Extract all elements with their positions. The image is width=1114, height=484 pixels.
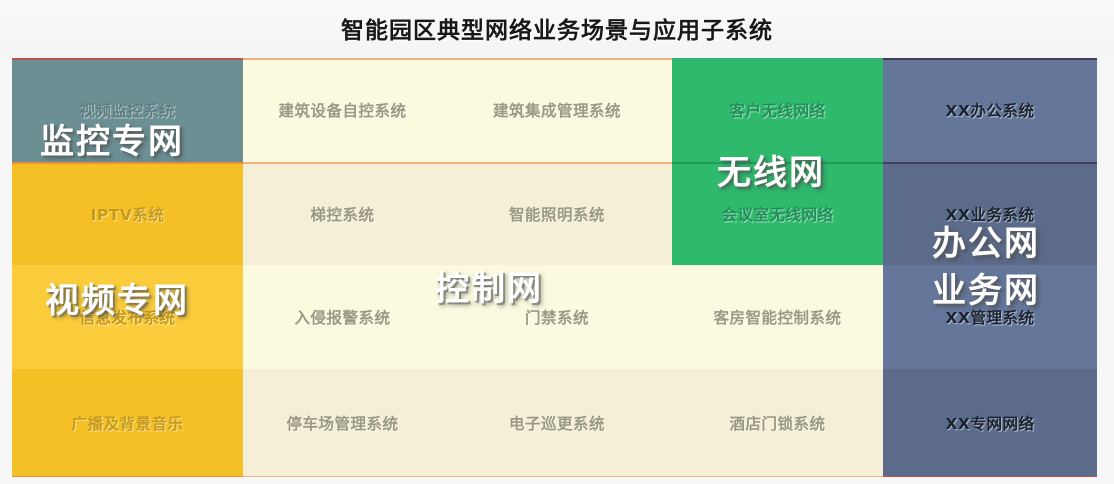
cell-accent-line — [883, 476, 1097, 478]
cell-r2c2[interactable]: 梯控系统 — [243, 162, 442, 265]
cell-label: 智能照明系统 — [509, 203, 605, 225]
overlay-label-monitor-network[interactable]: 监控专网 — [40, 114, 184, 163]
cell-r3c4[interactable]: 客房智能控制系统 — [672, 265, 883, 369]
cell-r4c3[interactable]: 电子巡更系统 — [442, 369, 672, 477]
cell-accent-line — [442, 162, 672, 164]
overlay-label-office-network[interactable]: 办公网 — [932, 216, 1040, 265]
cell-label: 建筑集成管理系统 — [493, 99, 621, 121]
cell-accent-line — [243, 162, 442, 164]
cell-accent-line — [12, 476, 243, 478]
title-bar: 智能园区典型网络业务场景与应用子系统 — [0, 0, 1114, 55]
cell-r1c5[interactable]: XX办公系统 — [883, 58, 1097, 162]
cell-accent-line — [672, 476, 883, 478]
overlay-label-control-network[interactable]: 控制网 — [435, 261, 543, 310]
subsystem-matrix: 视频监控系统 建筑设备自控系统 建筑集成管理系统 客户无线网络 XX办公系统 I… — [12, 58, 1097, 478]
cell-label: 建筑设备自控系统 — [278, 99, 406, 121]
cell-accent-line — [243, 476, 442, 478]
cell-label: 电子巡更系统 — [509, 412, 605, 434]
cell-r2c3[interactable]: 智能照明系统 — [442, 162, 672, 265]
overlay-label-business-network[interactable]: 业务网 — [932, 263, 1040, 312]
overlay-label-video-network[interactable]: 视频专网 — [45, 273, 189, 322]
cell-label: 梯控系统 — [310, 203, 374, 225]
cell-label: IPTV系统 — [91, 203, 165, 225]
cell-r3c2[interactable]: 入侵报警系统 — [243, 265, 442, 369]
cell-label: XX办公系统 — [946, 99, 1035, 121]
cell-r1c3[interactable]: 建筑集成管理系统 — [442, 58, 672, 162]
cell-label: XX专网网络 — [946, 412, 1035, 434]
cell-r2c1[interactable]: IPTV系统 — [12, 162, 243, 265]
cell-r4c5[interactable]: XX专网网络 — [883, 369, 1097, 477]
overlay-label-wireless-network[interactable]: 无线网 — [717, 145, 825, 194]
cell-r4c2[interactable]: 停车场管理系统 — [243, 369, 442, 477]
cell-label: 广播及背景音乐 — [71, 412, 183, 434]
cell-accent-line — [442, 58, 672, 60]
cell-label: 客户无线网络 — [729, 99, 825, 121]
cell-label: 酒店门锁系统 — [729, 412, 825, 434]
cell-r4c1[interactable]: 广播及背景音乐 — [12, 369, 243, 477]
page-title: 智能园区典型网络业务场景与应用子系统 — [341, 11, 773, 45]
cell-label: 客房智能控制系统 — [713, 306, 841, 328]
cell-accent-line — [243, 58, 442, 60]
cell-label: 停车场管理系统 — [286, 412, 398, 434]
cell-label: 会议室无线网络 — [721, 203, 833, 225]
cell-r1c2[interactable]: 建筑设备自控系统 — [243, 58, 442, 162]
cell-r4c4[interactable]: 酒店门锁系统 — [672, 369, 883, 477]
cell-accent-line — [883, 162, 1097, 164]
cell-accent-line — [883, 58, 1097, 60]
cell-accent-line — [442, 476, 672, 478]
cell-accent-line — [12, 58, 243, 60]
cell-label: 入侵报警系统 — [294, 306, 390, 328]
